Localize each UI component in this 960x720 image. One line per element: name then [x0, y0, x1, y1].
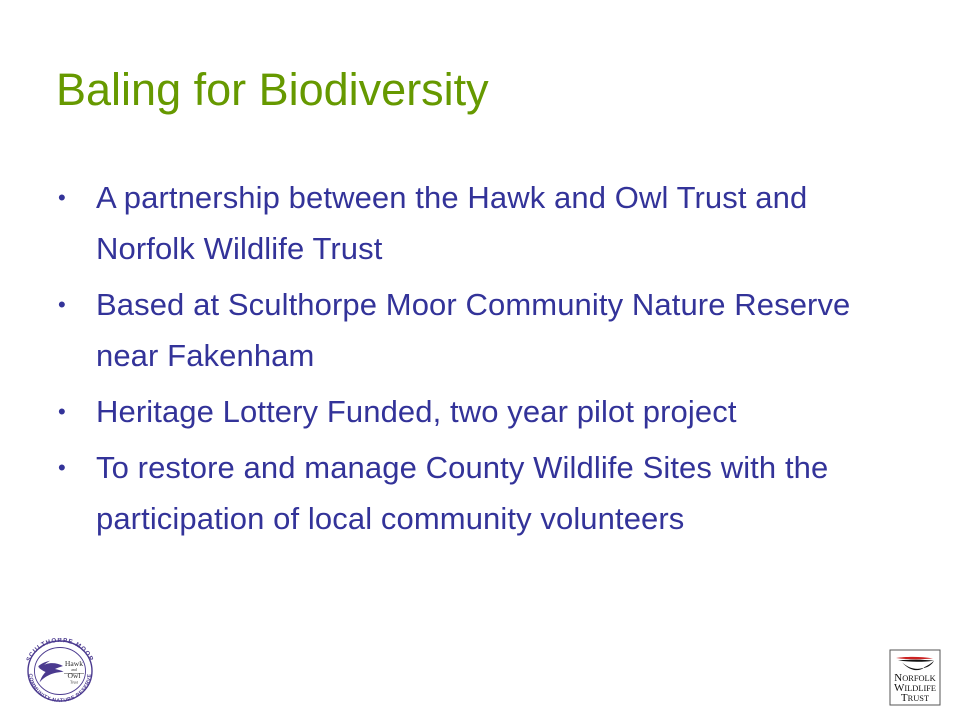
- bullet-point-icon: •: [58, 279, 80, 330]
- list-item-text: Heritage Lottery Funded, two year pilot …: [96, 386, 906, 437]
- svg-text:TRUST: TRUST: [901, 692, 929, 704]
- page-title: Baling for Biodiversity: [56, 64, 916, 116]
- svg-text:Trust: Trust: [70, 680, 79, 684]
- norfolk-wildlife-trust-logo: NORFOLK WILDLIFE TRUST: [889, 649, 941, 706]
- bullet-point-icon: •: [58, 386, 80, 437]
- list-item-text: A partnership between the Hawk and Owl T…: [96, 172, 906, 274]
- list-item: • Heritage Lottery Funded, two year pilo…: [50, 386, 906, 437]
- bullet-list: • A partnership between the Hawk and Owl…: [50, 172, 906, 549]
- list-item: • Based at Sculthorpe Moor Community Nat…: [50, 279, 906, 381]
- bullet-point-icon: •: [58, 442, 80, 493]
- presentation-slide: Baling for Biodiversity • A partnership …: [0, 0, 960, 720]
- list-item: • To restore and manage County Wildlife …: [50, 442, 906, 544]
- list-item: • A partnership between the Hawk and Owl…: [50, 172, 906, 274]
- svg-text:Hawk: Hawk: [65, 659, 83, 668]
- list-item-text: To restore and manage County Wildlife Si…: [96, 442, 906, 544]
- svg-text:Owl: Owl: [67, 671, 80, 680]
- list-item-text: Based at Sculthorpe Moor Community Natur…: [96, 279, 906, 381]
- bullet-point-icon: •: [58, 172, 80, 223]
- sculthorpe-moor-logo: SCULTHORPE MOOR COMMUNITY NATURE RESERVE…: [16, 638, 104, 704]
